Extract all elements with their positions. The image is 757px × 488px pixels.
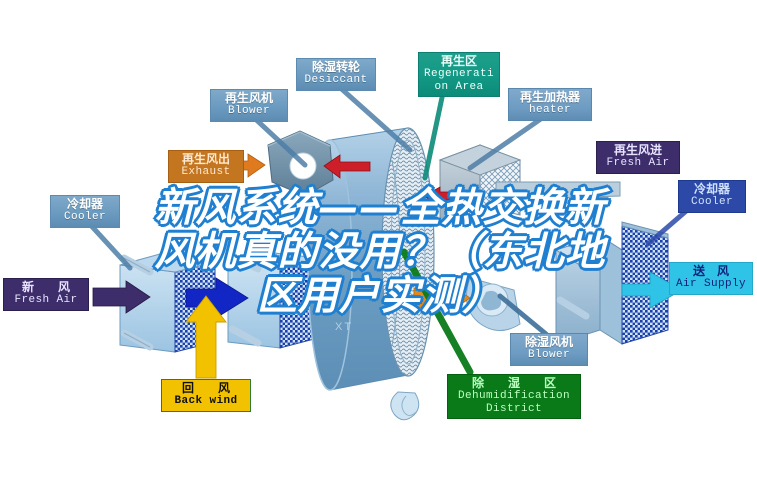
label-dehum-blower: 除湿风机 Blower (510, 333, 588, 366)
label-regen-heater-cn: 再生加热器 (514, 91, 586, 104)
dehumidifier-schematic: XT (0, 0, 757, 488)
label-regeneration-area: 再生区 Regenerati on Area (418, 52, 500, 97)
label-regen-heater-en: heater (514, 104, 586, 116)
svg-text:XT: XT (335, 321, 353, 333)
label-regen-exhaust: 再生风出 Exhaust (168, 150, 244, 183)
label-dehum-blower-cn: 除湿风机 (516, 336, 582, 349)
label-dehumidification-district-cn: 除 湿 区 (453, 377, 575, 390)
label-back-wind-en: Back wind (167, 395, 245, 407)
label-regen-blower: 再生风机 Blower (210, 89, 288, 122)
label-desiccant-cn: 除湿转轮 (302, 61, 370, 74)
label-desiccant-en: Desiccant (302, 74, 370, 86)
label-cooler-right: 冷却器 Cooler (678, 180, 746, 213)
label-regen-exhaust-cn: 再生风出 (174, 153, 238, 166)
dehum-blower-housing-group (466, 236, 622, 344)
label-cooler-left: 冷却器 Cooler (50, 195, 120, 228)
label-air-supply-en: Air Supply (675, 278, 747, 290)
label-dehumidification-district: 除 湿 区 Dehumidification District (447, 374, 581, 419)
label-desiccant: 除湿转轮 Desiccant (296, 58, 376, 91)
label-regen-fresh-air: 再生风进 Fresh Air (596, 141, 680, 174)
label-fresh-air-in: 新 风 Fresh Air (3, 278, 89, 311)
label-regen-fresh-air-en: Fresh Air (602, 157, 674, 169)
label-fresh-air-in-cn: 新 风 (9, 281, 83, 294)
label-cooler-left-en: Cooler (56, 211, 114, 223)
label-regen-heater: 再生加热器 heater (508, 88, 592, 121)
label-back-wind-cn: 回 风 (167, 382, 245, 395)
label-dehum-blower-en: Blower (516, 349, 582, 361)
label-air-supply: 送 风 Air Supply (669, 262, 753, 295)
label-cooler-right-en: Cooler (684, 196, 740, 208)
label-dehumidification-district-en: Dehumidification District (453, 390, 575, 415)
label-regeneration-area-en: Regenerati on Area (424, 68, 494, 93)
label-regen-blower-cn: 再生风机 (216, 92, 282, 105)
label-regen-exhaust-en: Exhaust (174, 166, 238, 178)
heater-coil-group (440, 145, 620, 222)
label-cooler-right-cn: 冷却器 (684, 183, 740, 196)
label-air-supply-cn: 送 风 (675, 265, 747, 278)
label-cooler-left-cn: 冷却器 (56, 198, 114, 211)
label-fresh-air-in-en: Fresh Air (9, 294, 83, 306)
diagram-canvas: XT 除湿转轮 Desiccant 再生风机 Blower 再生区 Regene… (0, 0, 757, 488)
label-regeneration-area-cn: 再生区 (424, 55, 494, 68)
label-regen-blower-en: Blower (216, 105, 282, 117)
label-regen-fresh-air-cn: 再生风进 (602, 144, 674, 157)
label-back-wind: 回 风 Back wind (161, 379, 251, 412)
